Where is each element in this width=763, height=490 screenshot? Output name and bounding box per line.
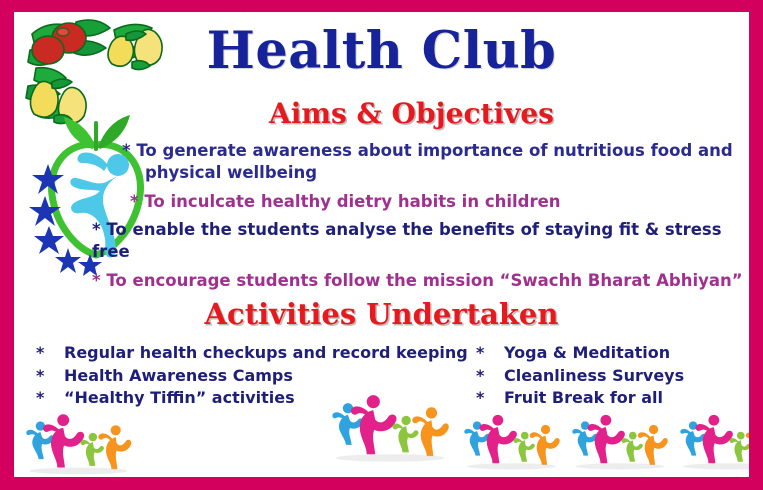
page-title: Health Club bbox=[14, 26, 749, 77]
list-item: * Health Awareness Camps bbox=[36, 365, 476, 388]
aim-item: * To encourage students follow the missi… bbox=[92, 270, 743, 292]
list-item: * Regular health checkups and record kee… bbox=[36, 342, 476, 365]
people-figures-group-icon bbox=[332, 390, 454, 469]
bullet-star-icon: * bbox=[36, 342, 64, 365]
list-item: * Yoga & Meditation bbox=[476, 342, 684, 365]
people-figures-group-icon bbox=[680, 410, 749, 477]
activities-undertaken-heading: Activities Undertaken bbox=[14, 300, 749, 329]
poster-inner-panel: Health Club Aims & Objectives * To gener… bbox=[14, 12, 749, 477]
list-item-label: “Healthy Tiffin” activities bbox=[64, 387, 295, 410]
aim-item: * To inculcate healthy dietry habits in … bbox=[130, 191, 743, 213]
list-item-label: Regular health checkups and record keepi… bbox=[64, 342, 468, 365]
people-figures-group-icon bbox=[26, 410, 136, 477]
bullet-star-icon: * bbox=[36, 387, 64, 410]
aim-item: * To enable the students analyse the ben… bbox=[92, 219, 743, 264]
list-item: * Cleanliness Surveys bbox=[476, 365, 684, 388]
aims-list: * To generate awareness about importance… bbox=[14, 140, 743, 293]
aim-item: * To generate awareness about importance… bbox=[122, 140, 743, 185]
list-item-label: Yoga & Meditation bbox=[504, 342, 670, 365]
people-figures-group-icon bbox=[464, 410, 564, 477]
bullet-star-icon: * bbox=[36, 365, 64, 388]
poster: Health Club Aims & Objectives * To gener… bbox=[0, 0, 763, 490]
list-item-label: Cleanliness Surveys bbox=[504, 365, 684, 388]
list-item-label: Health Awareness Camps bbox=[64, 365, 293, 388]
bullet-star-icon: * bbox=[476, 387, 504, 410]
aims-objectives-heading: Aims & Objectives bbox=[14, 100, 749, 128]
people-figures-group-icon bbox=[572, 410, 672, 477]
bullet-star-icon: * bbox=[476, 365, 504, 388]
list-item: * Fruit Break for all bbox=[476, 387, 684, 410]
list-item-label: Fruit Break for all bbox=[504, 387, 663, 410]
activities-right-column: * Yoga & Meditation * Cleanliness Survey… bbox=[476, 342, 684, 410]
bullet-star-icon: * bbox=[476, 342, 504, 365]
